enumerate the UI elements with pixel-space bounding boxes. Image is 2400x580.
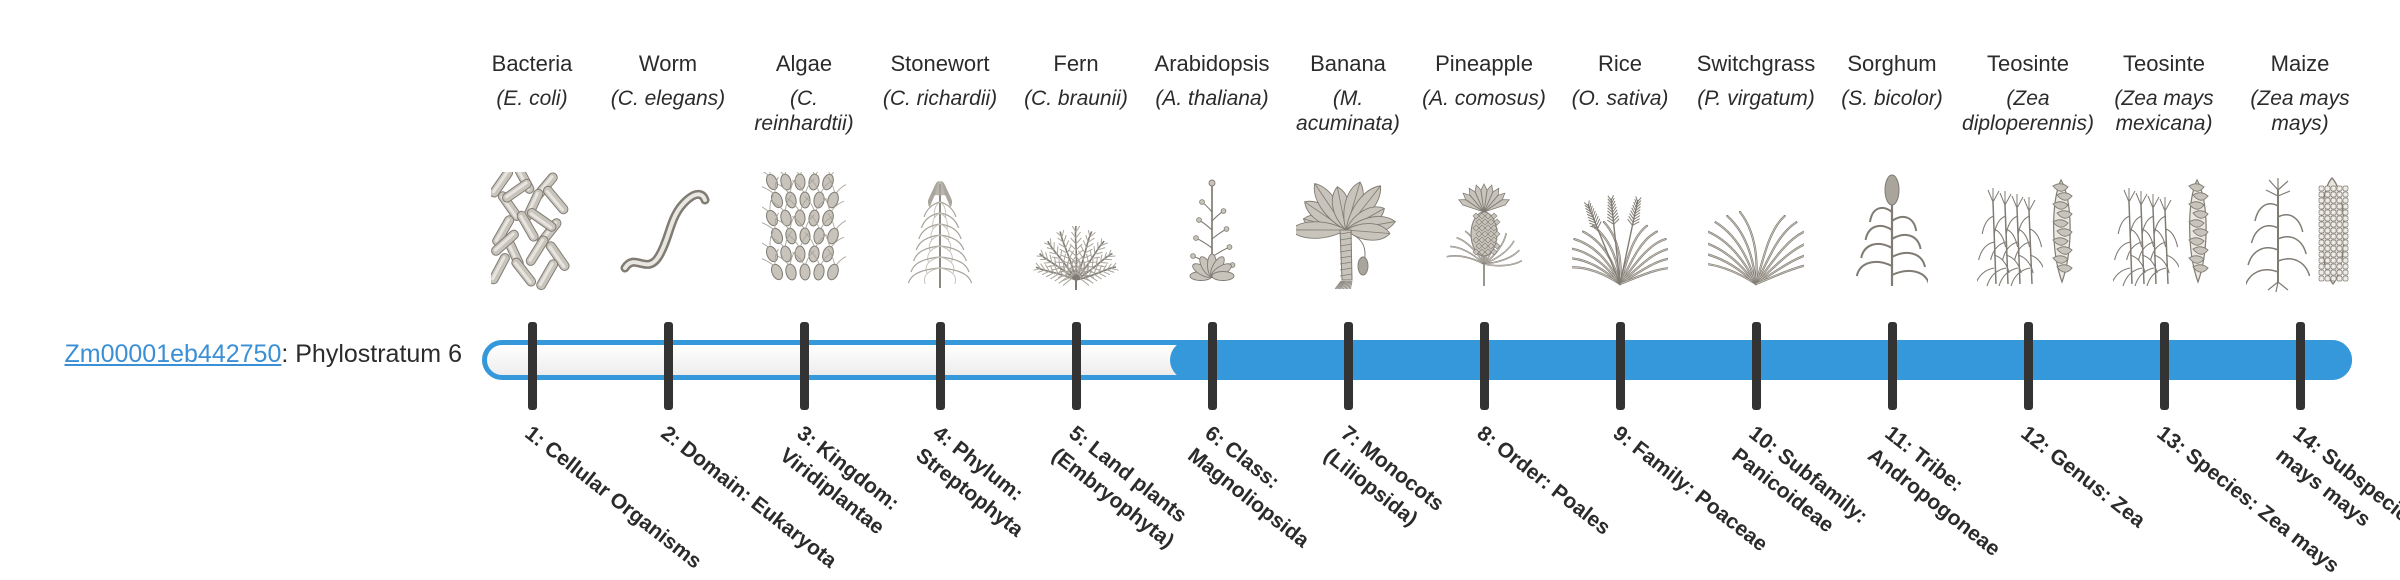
maize-illustration — [2232, 168, 2368, 292]
species-column: Teosinte(Zea diploperennis) — [1960, 50, 2096, 137]
species-latin-name: (C. richardii) — [872, 86, 1008, 112]
species-column: Pineapple(A. comosus) — [1416, 50, 1552, 111]
phylostratum-tick[interactable] — [1072, 322, 1081, 410]
species-latin-name: (Zea diploperennis) — [1960, 86, 2096, 137]
phylostratum-tick[interactable] — [936, 322, 945, 410]
species-common-name: Sorghum — [1824, 50, 1960, 78]
sorghum-illustration — [1824, 168, 1960, 292]
species-column: Maize(Zea mays mays) — [2232, 50, 2368, 137]
species-latin-name: (Zea mays mexicana) — [2096, 86, 2232, 137]
fern-illustration — [1008, 168, 1144, 292]
species-common-name: Stonewort — [872, 50, 1008, 78]
gene-id-link[interactable]: Zm00001eb442750 — [65, 340, 282, 368]
species-column: Sorghum(S. bicolor) — [1824, 50, 1960, 111]
species-common-name: Switchgrass — [1688, 50, 1824, 78]
species-latin-name: (A. comosus) — [1416, 86, 1552, 112]
phylostratum-tick[interactable] — [1480, 322, 1489, 410]
stonewort-illustration — [872, 168, 1008, 292]
species-column: Fern(C. braunii) — [1008, 50, 1144, 111]
species-common-name: Worm — [600, 50, 736, 78]
species-column: Worm(C. elegans) — [600, 50, 736, 111]
species-common-name: Teosinte — [2096, 50, 2232, 78]
teosinte-diploperennis-illustration — [1960, 168, 2096, 292]
species-latin-name: (E. coli) — [464, 86, 600, 112]
species-common-name: Algae — [736, 50, 872, 78]
species-latin-name: (P. virgatum) — [1688, 86, 1824, 112]
species-latin-name: (M. acuminata) — [1280, 86, 1416, 137]
phylostratum-tick[interactable] — [800, 322, 809, 410]
phylostratum-figure: Zm00001eb442750: Phylostratum 6 Bacteria… — [0, 0, 2400, 580]
species-column: Switchgrass(P. virgatum) — [1688, 50, 1824, 111]
arabidopsis-illustration — [1144, 168, 1280, 292]
species-latin-name: (S. bicolor) — [1824, 86, 1960, 112]
species-latin-name: (A. thaliana) — [1144, 86, 1280, 112]
phylostratum-tick[interactable] — [1208, 322, 1217, 410]
species-column: Algae(C. reinhardtii) — [736, 50, 872, 137]
species-latin-name: (C. reinhardtii) — [736, 86, 872, 137]
phylostratum-tick[interactable] — [2024, 322, 2033, 410]
phylostratum-tick[interactable] — [2160, 322, 2169, 410]
species-common-name: Rice — [1552, 50, 1688, 78]
phylostratum-tick[interactable] — [528, 322, 537, 410]
species-column: Arabidopsis(A. thaliana) — [1144, 50, 1280, 111]
phylostratum-tick[interactable] — [1888, 322, 1897, 410]
species-column: Rice(O. sativa) — [1552, 50, 1688, 111]
species-common-name: Maize — [2232, 50, 2368, 78]
phylostratum-tick[interactable] — [1344, 322, 1353, 410]
phylostratum-text: : Phylostratum 6 — [281, 340, 462, 368]
species-latin-name: (C. braunii) — [1008, 86, 1144, 112]
worm-illustration — [600, 168, 736, 292]
species-column: Teosinte(Zea mays mexicana) — [2096, 50, 2232, 137]
species-common-name: Fern — [1008, 50, 1144, 78]
algae-illustration — [736, 168, 872, 292]
species-common-name: Arabidopsis — [1144, 50, 1280, 78]
species-common-name: Banana — [1280, 50, 1416, 78]
rice-illustration — [1552, 168, 1688, 292]
phylostratum-tick[interactable] — [1616, 322, 1625, 410]
species-latin-name: (O. sativa) — [1552, 86, 1688, 112]
gene-caption: Zm00001eb442750: Phylostratum 6 — [42, 339, 462, 369]
species-common-name: Pineapple — [1416, 50, 1552, 78]
species-column: Banana(M. acuminata) — [1280, 50, 1416, 137]
species-common-name: Bacteria — [464, 50, 600, 78]
phylostratum-tick[interactable] — [664, 322, 673, 410]
banana-illustration — [1280, 168, 1416, 292]
species-column: Stonewort(C. richardii) — [872, 50, 1008, 111]
species-latin-name: (C. elegans) — [600, 86, 736, 112]
species-latin-name: (Zea mays mays) — [2232, 86, 2368, 137]
phylostratum-tick[interactable] — [2296, 322, 2305, 410]
pineapple-illustration — [1416, 168, 1552, 292]
species-column: Bacteria(E. coli) — [464, 50, 600, 111]
bacteria-illustration — [464, 168, 600, 292]
phylostratum-tick[interactable] — [1752, 322, 1761, 410]
species-common-name: Teosinte — [1960, 50, 2096, 78]
switchgrass-illustration — [1688, 168, 1824, 292]
teosinte-mexicana-illustration — [2096, 168, 2232, 292]
